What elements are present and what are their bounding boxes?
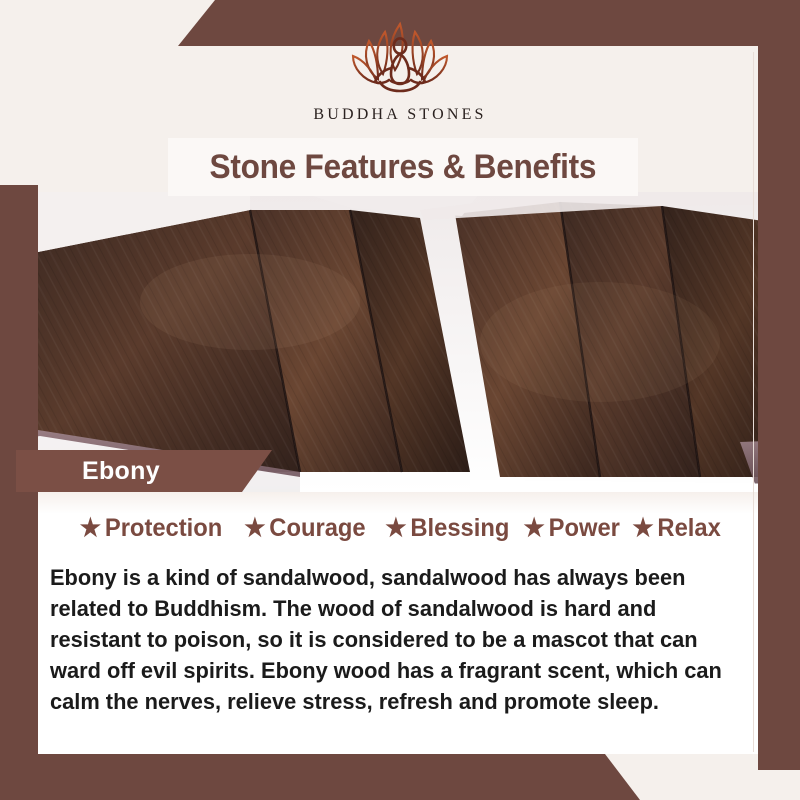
title-band: Stone Features & Benefits: [168, 138, 638, 196]
feature-label: Courage: [269, 514, 365, 543]
product-name-ribbon: Ebony: [16, 450, 272, 492]
lotus-meditation-icon: [325, 18, 475, 100]
page-title: Stone Features & Benefits: [210, 148, 597, 187]
frame-left-bar: [0, 185, 38, 800]
feature-item-courage: ★ Courage: [244, 514, 365, 543]
feature-label: Blessing: [411, 514, 510, 543]
content-panel: ★ Protection ★ Courage ★ Blessing ★ Powe…: [38, 492, 762, 754]
feature-item-relax: ★ Relax: [633, 514, 721, 543]
frame-bottom-bar: [0, 754, 800, 800]
product-name-label: Ebony: [82, 457, 160, 486]
star-icon: ★: [633, 516, 654, 541]
feature-item-blessing: ★ Blessing: [386, 514, 510, 543]
feature-item-protection: ★ Protection: [80, 514, 223, 543]
header: BUDDHA STONES Stone Features & Benefits: [0, 0, 800, 196]
poster-root: BUDDHA STONES Stone Features & Benefits: [0, 0, 800, 800]
product-photo: [0, 192, 800, 492]
star-icon: ★: [386, 516, 407, 541]
description-text: Ebony is a kind of sandalwood, sandalwoo…: [50, 562, 729, 717]
ebony-wood-image: [0, 192, 800, 492]
star-icon: ★: [80, 516, 101, 541]
feature-list: ★ Protection ★ Courage ★ Blessing ★ Powe…: [38, 514, 762, 543]
feature-label: Power: [549, 514, 620, 543]
brand-name: BUDDHA STONES: [313, 106, 486, 124]
feature-label: Protection: [105, 514, 222, 543]
brand-logo: BUDDHA STONES: [0, 18, 800, 124]
panel-top-fade: [38, 492, 762, 514]
star-icon: ★: [244, 516, 265, 541]
feature-label: Relax: [658, 514, 721, 543]
feature-item-power: ★ Power: [523, 514, 619, 543]
star-icon: ★: [523, 516, 544, 541]
